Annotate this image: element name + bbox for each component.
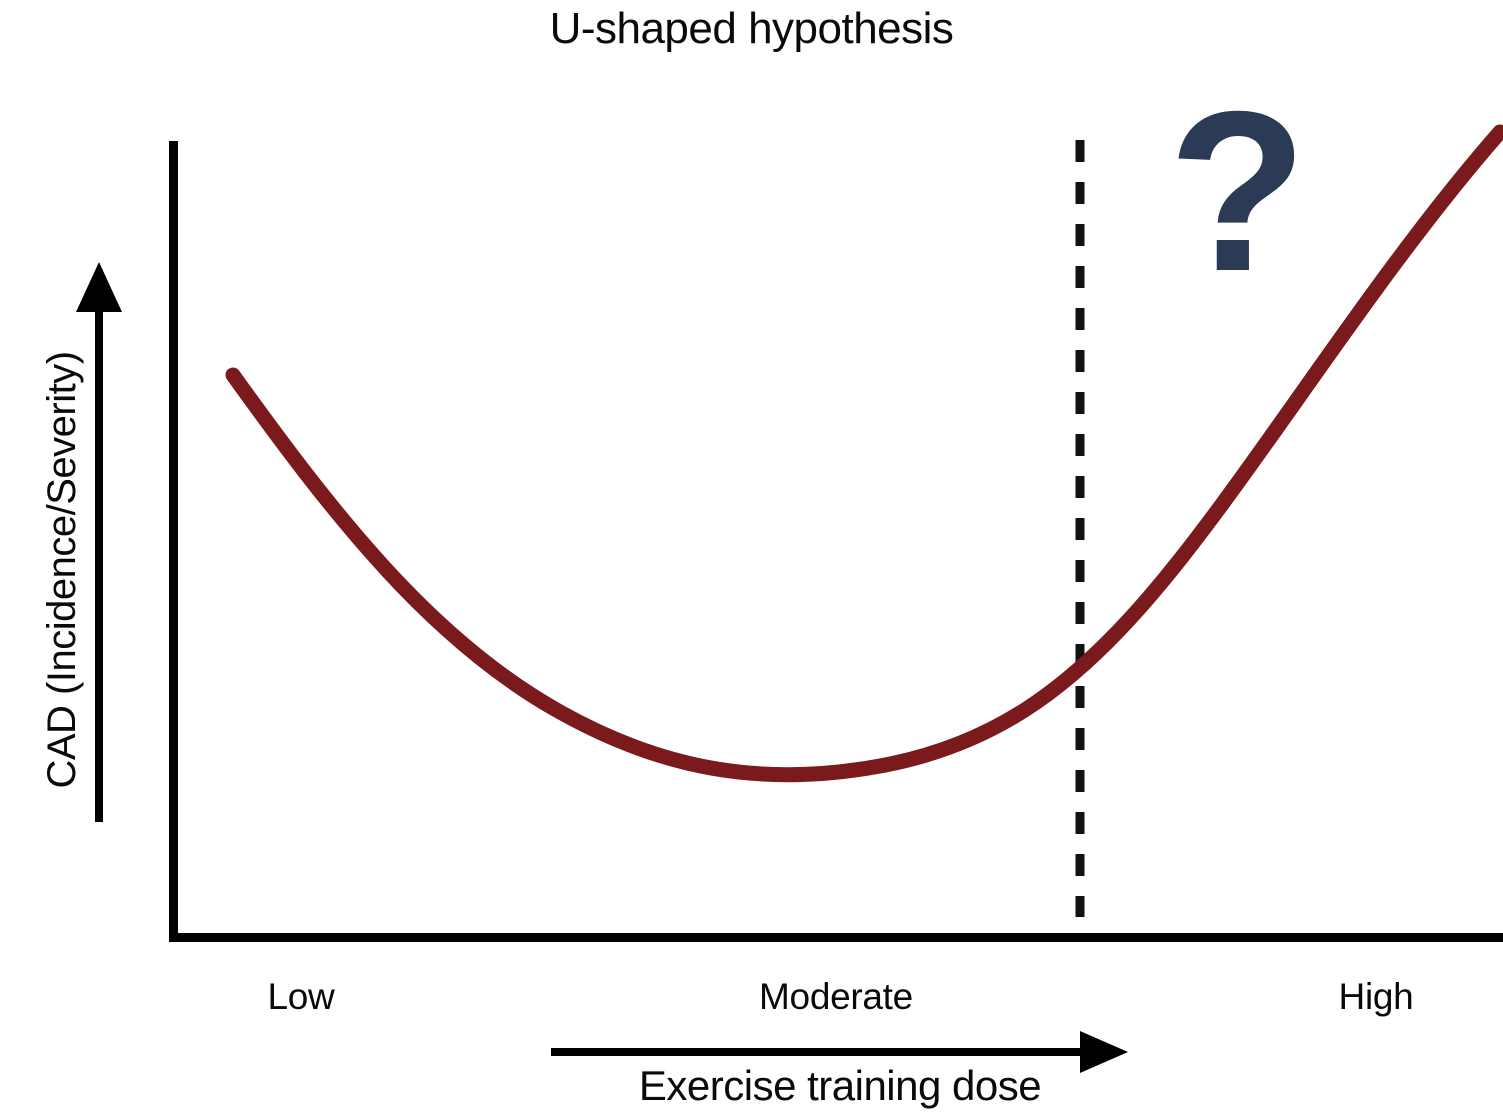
x-axis-spine xyxy=(169,933,1503,942)
question-mark-annotation: ? xyxy=(1168,78,1307,306)
x-tick-label-high: High xyxy=(1260,976,1492,1018)
y-axis-label-text: CAD (Incidence/Severity) xyxy=(40,351,85,788)
x-tick-label-moderate: Moderate xyxy=(720,976,952,1018)
u-shaped-hypothesis-figure: U-shaped hypothesis CAD (Incidence/Sever… xyxy=(0,0,1503,1118)
x-tick-label-low: Low xyxy=(186,976,416,1018)
y-axis-label: CAD (Incidence/Severity) xyxy=(32,250,92,890)
y-axis-spine xyxy=(169,141,178,942)
x-axis-direction-arrow-shaft xyxy=(551,1048,1096,1056)
cad-risk-curve xyxy=(233,132,1500,775)
x-axis-label-text: Exercise training dose xyxy=(450,1062,1230,1110)
y-axis-direction-arrow-shaft xyxy=(95,290,103,822)
